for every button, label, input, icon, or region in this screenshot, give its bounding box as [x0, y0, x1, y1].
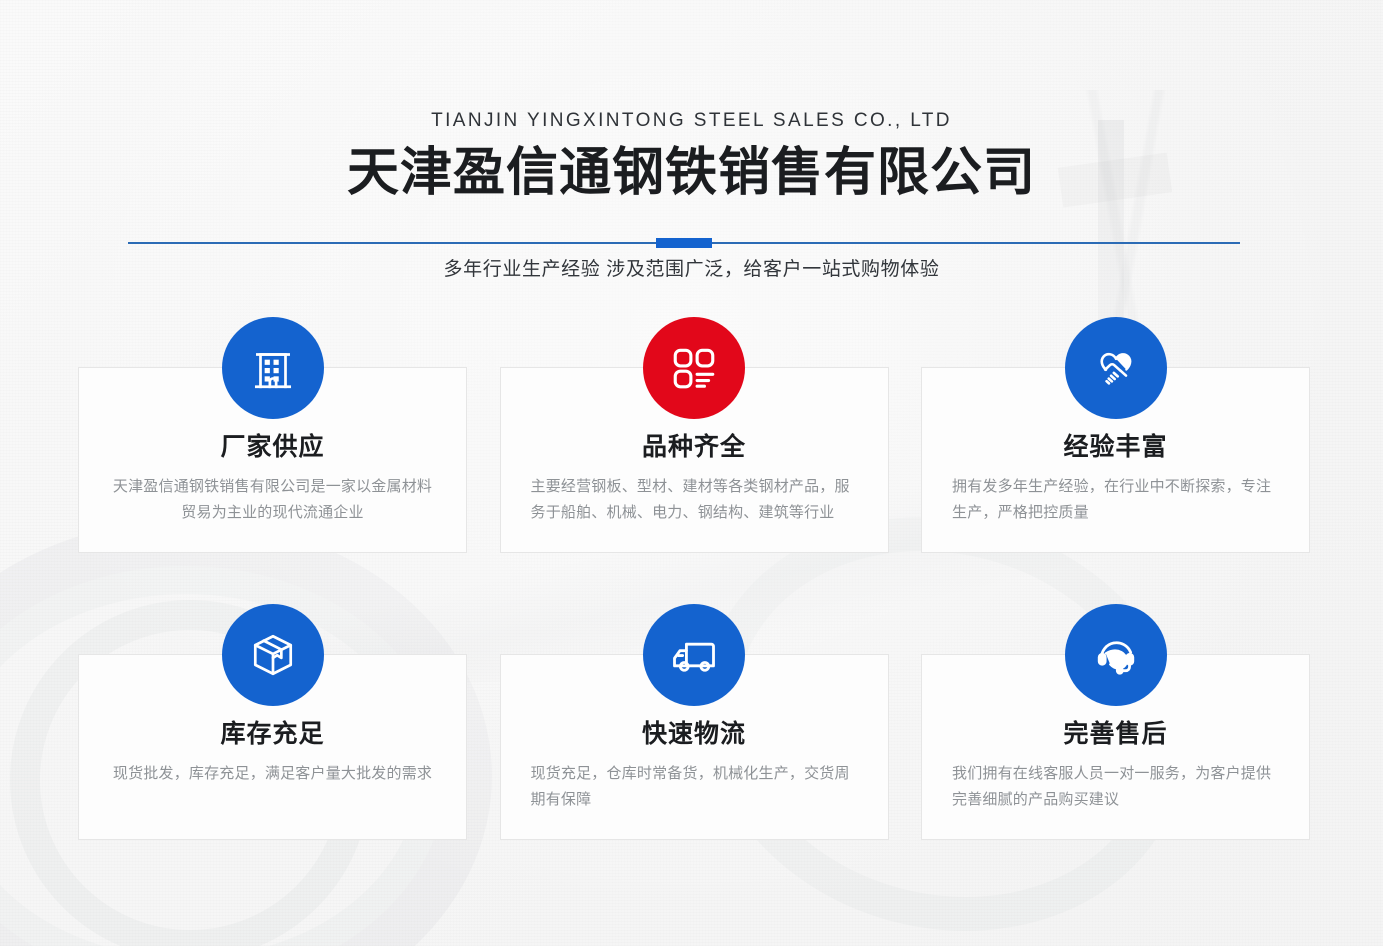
feature-card-title: 完善售后	[952, 717, 1279, 751]
feature-card-rich-experience[interactable]: 经验丰富 拥有发多年生产经验，在行业中不断探索，专注生产，严格把控质量	[921, 367, 1310, 553]
feature-card-sufficient-stock[interactable]: 库存充足 现货批发，库存充足，满足客户量大批发的需求	[78, 654, 467, 840]
customer-support-headset-icon	[1065, 604, 1167, 706]
feature-card-description: 现货批发，库存充足，满足客户量大批发的需求	[109, 761, 436, 787]
feature-card-description: 现货充足，仓库时常备货，机械化生产，交货周期有保障	[531, 761, 858, 813]
feature-card-after-sales[interactable]: 完善售后 我们拥有在线客服人员一对一服务，为客户提供完善细腻的产品购买建议	[921, 654, 1310, 840]
page-header: TIANJIN YINGXINTONG STEEL SALES CO., LTD…	[0, 108, 1383, 241]
feature-card-title: 厂家供应	[109, 430, 436, 464]
feature-card-fast-logistics[interactable]: 快速物流 现货充足，仓库时常备货，机械化生产，交货周期有保障	[500, 654, 889, 840]
feature-card-description: 天津盈信通钢铁销售有限公司是一家以金属材料贸易为主业的现代流通企业	[109, 474, 436, 526]
feature-card-title: 库存充足	[109, 717, 436, 751]
header-divider	[128, 238, 1240, 248]
feature-card-row-1: 厂家供应 天津盈信通钢铁销售有限公司是一家以金属材料贸易为主业的现代流通企业 品…	[78, 316, 1310, 553]
feature-card-manufacturer-supply[interactable]: 厂家供应 天津盈信通钢铁销售有限公司是一家以金属材料贸易为主业的现代流通企业	[78, 367, 467, 553]
feature-card-row-2: 库存充足 现货批发，库存充足，满足客户量大批发的需求 快速物流 现货充足，仓库时…	[78, 603, 1310, 840]
feature-card-title: 品种齐全	[531, 430, 858, 464]
building-icon	[222, 317, 324, 419]
promo-banner-page: TIANJIN YINGXINTONG STEEL SALES CO., LTD…	[0, 0, 1383, 946]
feature-card-description: 拥有发多年生产经验，在行业中不断探索，专注生产，严格把控质量	[952, 474, 1279, 526]
feature-card-description: 我们拥有在线客服人员一对一服务，为客户提供完善细腻的产品购买建议	[952, 761, 1279, 813]
feature-card-description: 主要经营钢板、型材、建材等各类钢材产品，服务于船舶、机械、电力、钢结构、建筑等行…	[531, 474, 858, 526]
handshake-heart-icon	[1065, 317, 1167, 419]
package-box-icon	[222, 604, 324, 706]
feature-card-full-variety[interactable]: 品种齐全 主要经营钢板、型材、建材等各类钢材产品，服务于船舶、机械、电力、钢结构…	[500, 367, 889, 553]
delivery-truck-icon	[643, 604, 745, 706]
feature-card-grid: 厂家供应 天津盈信通钢铁销售有限公司是一家以金属材料贸易为主业的现代流通企业 品…	[78, 316, 1310, 840]
feature-card-title: 经验丰富	[952, 430, 1279, 464]
company-name-english: TIANJIN YINGXINTONG STEEL SALES CO., LTD	[0, 108, 1383, 134]
divider-accent-bar	[656, 238, 712, 248]
feature-card-title: 快速物流	[531, 717, 858, 751]
category-grid-icon	[643, 317, 745, 419]
page-subtitle: 多年行业生产经验 涉及范围广泛，给客户一站式购物体验	[0, 255, 1383, 285]
page-title: 天津盈信通钢铁销售有限公司	[0, 140, 1383, 206]
